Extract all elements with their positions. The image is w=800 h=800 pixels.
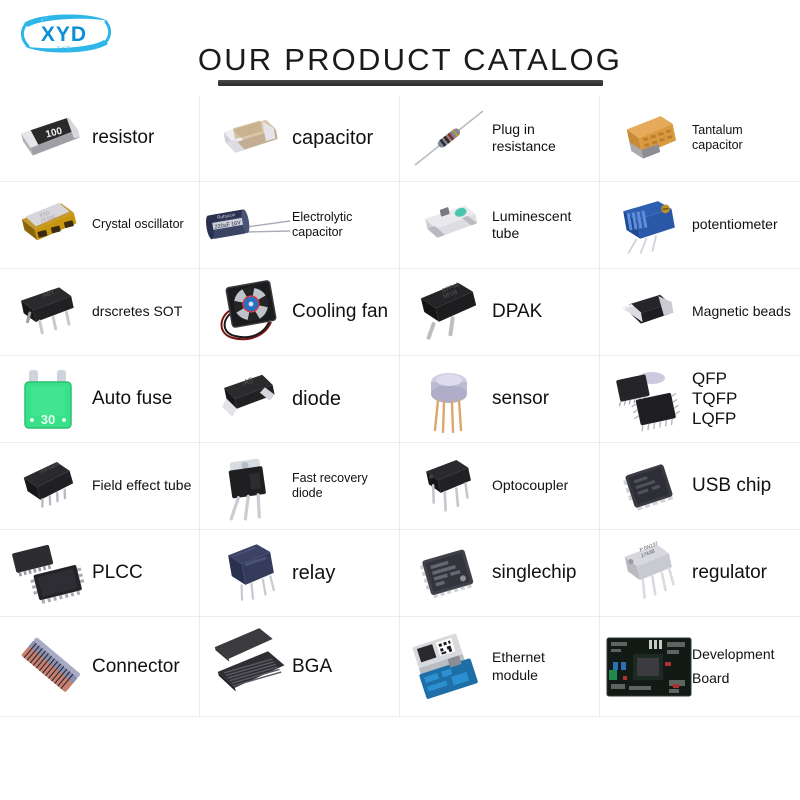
catalog-cell-diode[interactable]: A5 diode — [200, 356, 400, 443]
catalog-label-sensor: sensor — [488, 387, 595, 410]
catalog-label-magnetic-beads: Magnetic beads — [688, 303, 796, 320]
smd-resistor-icon: 100 — [10, 101, 88, 175]
mosfet-package-icon: IRF540N — [10, 449, 88, 523]
catalog-label-ethernet-module: Ethernet module — [488, 649, 595, 683]
catalog-label-auto-fuse: Auto fuse — [88, 387, 195, 410]
development-board-icon — [610, 630, 688, 704]
catalog-label-crystal-oscillator: Crystal oscillator — [88, 217, 195, 232]
catalog-label-connector: Connector — [88, 655, 195, 678]
catalog-label-luminescent-tube: Luminescent tube — [488, 208, 595, 242]
bga-package-icon — [210, 630, 288, 704]
qfp-package-icon — [610, 362, 688, 436]
catalog-label-bga: BGA — [288, 655, 395, 678]
catalog-cell-singlechip[interactable]: singlechip — [400, 530, 600, 617]
product-catalog-grid: 100 resistor capacitor Plug in resi — [0, 95, 800, 704]
axial-resistor-icon — [410, 101, 488, 175]
catalog-cell-relay[interactable]: relay — [200, 530, 400, 617]
catalog-cell-potentiometer[interactable]: potentiometer — [600, 182, 800, 269]
catalog-cell-connector[interactable]: Connector — [0, 617, 200, 717]
catalog-label-usb-chip: USB chip — [688, 474, 796, 497]
cooling-fan-icon — [210, 275, 288, 349]
board-connector-icon — [10, 630, 88, 704]
catalog-cell-resistor[interactable]: 100 resistor — [0, 95, 200, 182]
catalog-label-dpak: DPAK — [488, 300, 595, 323]
catalog-cell-electrolytic-capacitor[interactable]: 220uF 16V Rubycon Electrolytic capacitor — [200, 182, 400, 269]
catalog-label-field-effect-tube: Field effect tube — [88, 477, 195, 494]
svg-text:30: 30 — [41, 412, 55, 427]
mcu-qfn-icon — [410, 536, 488, 610]
catalog-label-drscretes-sot: drscretes SOT — [88, 303, 195, 320]
catalog-cell-ethernet-module[interactable]: Ethernet module — [400, 617, 600, 717]
smd-diode-icon: A5 — [210, 362, 288, 436]
dip-regulator-icon: P 6N137 1743B — [610, 536, 688, 610]
catalog-label-potentiometer: potentiometer — [688, 216, 796, 233]
catalog-cell-cooling-fan[interactable]: Cooling fan — [200, 269, 400, 356]
smd-capacitor-icon — [210, 101, 288, 175]
optocoupler-dip-icon — [410, 449, 488, 523]
magnetic-bead-icon — [610, 275, 688, 349]
catalog-label-plcc: PLCC — [88, 561, 195, 584]
qfn-usb-chip-icon — [610, 449, 688, 523]
page-title: OUR PRODUCT CATALOG — [198, 44, 622, 75]
catalog-label-fast-recovery-diode: Fast recovery diode — [288, 471, 395, 502]
electrolytic-capacitor-icon: 220uF 16V Rubycon — [210, 188, 288, 262]
catalog-cell-sensor[interactable]: sensor — [400, 356, 600, 443]
catalog-label-tantalum-capacitor: Tantalum capacitor — [688, 123, 796, 154]
catalog-cell-regulator[interactable]: P 6N137 1743B regulator — [600, 530, 800, 617]
catalog-cell-field-effect-tube[interactable]: IRF540N Field effect tube — [0, 443, 200, 530]
catalog-cell-development-board[interactable]: DevelopmentBoard — [600, 617, 800, 717]
title-underline — [218, 80, 603, 86]
catalog-cell-magnetic-beads[interactable]: Magnetic beads — [600, 269, 800, 356]
catalog-label-regulator: regulator — [688, 561, 796, 584]
catalog-cell-crystal-oscillator[interactable]: XYD16.000 Crystal oscillator — [0, 182, 200, 269]
crystal-oscillator-icon: XYD16.000 — [10, 188, 88, 262]
catalog-label-diode: diode — [288, 387, 395, 411]
catalog-label-relay: relay — [288, 561, 395, 585]
relay-icon — [210, 536, 288, 610]
catalog-cell-qfp-tqfp-lqfp[interactable]: QFPTQFPLQFP — [600, 356, 800, 443]
catalog-cell-dpak[interactable]: STP40 NF06 DPAK — [400, 269, 600, 356]
to220-diode-icon — [210, 449, 288, 523]
catalog-label-capacitor: capacitor — [288, 126, 395, 150]
catalog-cell-plcc[interactable]: PLCC — [0, 530, 200, 617]
catalog-label-resistor: resistor — [88, 126, 195, 149]
catalog-cell-drscretes-sot[interactable]: A6T drscretes SOT — [0, 269, 200, 356]
catalog-cell-plug-in-resistance[interactable]: Plug in resistance — [400, 95, 600, 182]
page-title-wrap: OUR PRODUCT CATALOG — [0, 44, 800, 86]
catalog-cell-optocoupler[interactable]: Optocoupler — [400, 443, 600, 530]
catalog-cell-usb-chip[interactable]: USB chip — [600, 443, 800, 530]
rj45-ethernet-icon — [410, 630, 488, 704]
catalog-cell-fast-recovery-diode[interactable]: Fast recovery diode — [200, 443, 400, 530]
svg-text:XYD: XYD — [41, 23, 87, 46]
catalog-label-electrolytic-capacitor: Electrolytic capacitor — [288, 210, 395, 241]
catalog-label-cooling-fan: Cooling fan — [288, 300, 395, 323]
catalog-label-optocoupler: Optocoupler — [488, 477, 595, 494]
catalog-label-plug-in-resistance: Plug in resistance — [488, 121, 595, 155]
catalog-label-development-board: DevelopmentBoard — [688, 643, 796, 691]
page-header: XYD - XYD - OUR PRODUCT CATALOG — [0, 0, 800, 95]
catalog-cell-luminescent-tube[interactable]: Luminescent tube — [400, 182, 600, 269]
to-can-sensor-icon — [410, 362, 488, 436]
catalog-cell-capacitor[interactable]: capacitor — [200, 95, 400, 182]
plcc-package-icon — [10, 536, 88, 610]
catalog-cell-auto-fuse[interactable]: 30 Auto fuse — [0, 356, 200, 443]
catalog-label-singlechip: singlechip — [488, 561, 595, 584]
trimmer-potentiometer-icon — [610, 188, 688, 262]
tantalum-capacitor-icon — [610, 101, 688, 175]
sot-package-icon: A6T — [10, 275, 88, 349]
catalog-label-qfp-tqfp-lqfp: QFPTQFPLQFP — [688, 369, 796, 428]
catalog-cell-tantalum-capacitor[interactable]: Tantalum capacitor — [600, 95, 800, 182]
dpak-package-icon: STP40 NF06 — [410, 275, 488, 349]
catalog-cell-bga[interactable]: BGA — [200, 617, 400, 717]
led-smd-icon — [410, 188, 488, 262]
blade-fuse-icon: 30 — [10, 362, 88, 436]
